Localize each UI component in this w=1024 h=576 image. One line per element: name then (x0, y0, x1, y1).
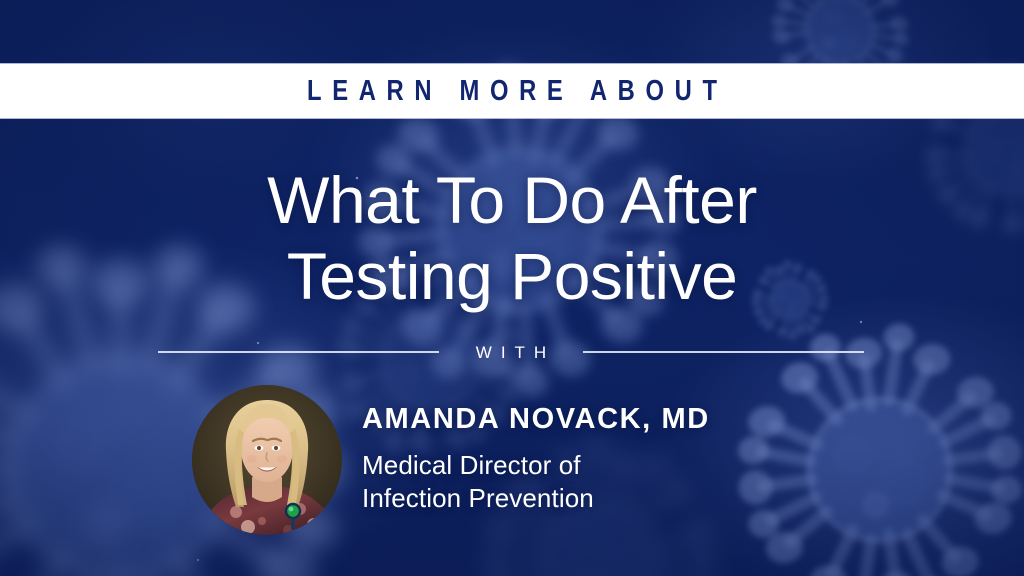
speaker-name: AMANDA NOVACK, MD (362, 405, 882, 434)
speaker-details: AMANDA NOVACK, MD Medical Director of In… (362, 405, 882, 515)
divider-rule-right (583, 351, 864, 353)
video-title-card: LEARN MORE ABOUT What To Do After Testin… (0, 0, 1024, 576)
speaker-role-line-1: Medical Director of (362, 449, 882, 482)
speaker-block: AMANDA NOVACK, MD Medical Director of In… (192, 385, 892, 537)
avatar (192, 385, 342, 535)
speaker-role-line-2: Infection Prevention (362, 482, 882, 515)
speaker-role: Medical Director of Infection Prevention (362, 449, 882, 515)
eyebrow-label: LEARN MORE ABOUT (296, 77, 727, 106)
page-title: What To Do After Testing Positive (0, 162, 1024, 314)
divider-rule-left (158, 351, 439, 353)
with-divider: WITH (158, 336, 864, 368)
with-label: WITH (439, 344, 583, 361)
page-title-line-2: Testing Positive (0, 238, 1024, 314)
eyebrow-banner: LEARN MORE ABOUT (0, 64, 1024, 118)
page-title-line-1: What To Do After (0, 162, 1024, 238)
